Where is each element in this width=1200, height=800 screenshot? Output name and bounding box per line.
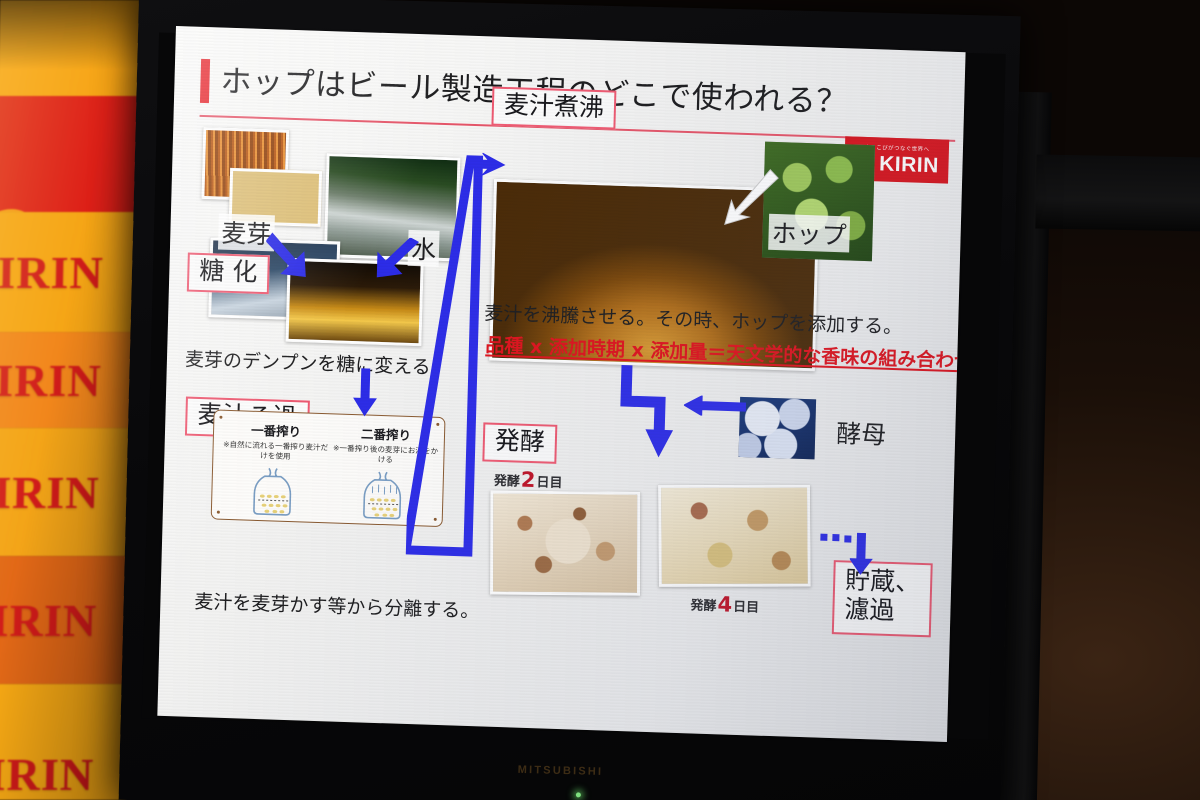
banner-wordmark: KIRIN xyxy=(0,748,95,800)
lauter-vessel-icon-first xyxy=(242,465,307,517)
banner-band xyxy=(0,96,142,212)
ferm-prefix: 発酵 xyxy=(690,598,716,614)
yeast-microscope-photo xyxy=(739,397,817,459)
banner-top-shadow xyxy=(0,0,142,70)
banner-wordmark: KIRIN xyxy=(0,594,98,647)
ferm-suffix: 日目 xyxy=(536,475,562,491)
wall-mount-arm-horizontal xyxy=(1035,155,1200,232)
banner-band: KIRIN xyxy=(0,556,142,684)
arrow-mash-to-filtration-icon xyxy=(352,368,379,417)
diagram-corner-dot xyxy=(217,511,220,514)
arrow-malt-to-mash-icon xyxy=(265,229,324,283)
caption-filtration: 麦汁を麦芽かす等から分離する。 xyxy=(194,587,480,623)
first-press-title: 一番搾り xyxy=(222,419,330,442)
photo-scene: KIRIN KIRIN KIRIN KIRIN KIRIN MITSUBISHI… xyxy=(0,0,1200,800)
dotted-connector-segment xyxy=(832,534,839,541)
presentation-slide: ホップはビール製造工程のどこで使われる？ よろこびがつなぐ世界へ KIRIN xyxy=(157,26,965,742)
fermentation-day-label: 発酵2日目 xyxy=(494,467,563,493)
arrow-to-storage-icon xyxy=(849,533,876,576)
power-led-indicator xyxy=(576,792,581,797)
label-wort-boiling: 麦汁煮沸 xyxy=(491,87,616,130)
fermentation-day2-photo xyxy=(490,491,640,596)
label-yeast: 酵母 xyxy=(833,414,890,452)
banner-wordmark: KIRIN xyxy=(0,246,104,299)
arrow-filtration-to-boiling-icon xyxy=(406,146,507,561)
dotted-connector-segment xyxy=(820,534,827,541)
ferm-suffix: 日目 xyxy=(733,600,759,616)
ferm-number: 4 xyxy=(716,592,733,617)
presentation-slide-area: ホップはビール製造工程のどこで使われる？ よろこびがつなぐ世界へ KIRIN xyxy=(157,26,965,742)
first-press-note: ※自然に流れる一番搾り麦汁だけを使用 xyxy=(221,440,329,464)
banner-band: KIRIN xyxy=(0,332,142,428)
banner-wordmark: KIRIN xyxy=(0,466,100,519)
arrow-to-fermentation-icon xyxy=(616,361,689,467)
fermentation-day-label: 発酵4日目 xyxy=(690,591,759,617)
diagram-column-first-press: 一番搾り ※自然に流れる一番搾り麦汁だけを使用 xyxy=(221,419,330,464)
kirin-holy-beast-icon xyxy=(0,192,56,212)
storage-line-2: 濾過 xyxy=(844,595,920,626)
fermentation-day4-photo xyxy=(658,485,811,587)
banner-band: KIRIN xyxy=(0,212,142,332)
label-storage-filtration: 貯蔵、 濾過 xyxy=(832,560,933,637)
banner-wordmark: KIRIN xyxy=(0,354,102,407)
label-saccharification: 糖 化 xyxy=(187,253,270,294)
arrow-yeast-inflow-icon xyxy=(684,395,747,417)
arrow-hops-to-kettle-icon xyxy=(719,164,783,230)
ferm-number: 2 xyxy=(520,468,537,493)
kirin-logo-wordmark: KIRIN xyxy=(879,152,939,178)
title-accent-bar xyxy=(200,59,210,103)
tv-brand-label: MITSUBISHI xyxy=(119,754,1001,788)
banner-band: KIRIN xyxy=(0,428,142,556)
